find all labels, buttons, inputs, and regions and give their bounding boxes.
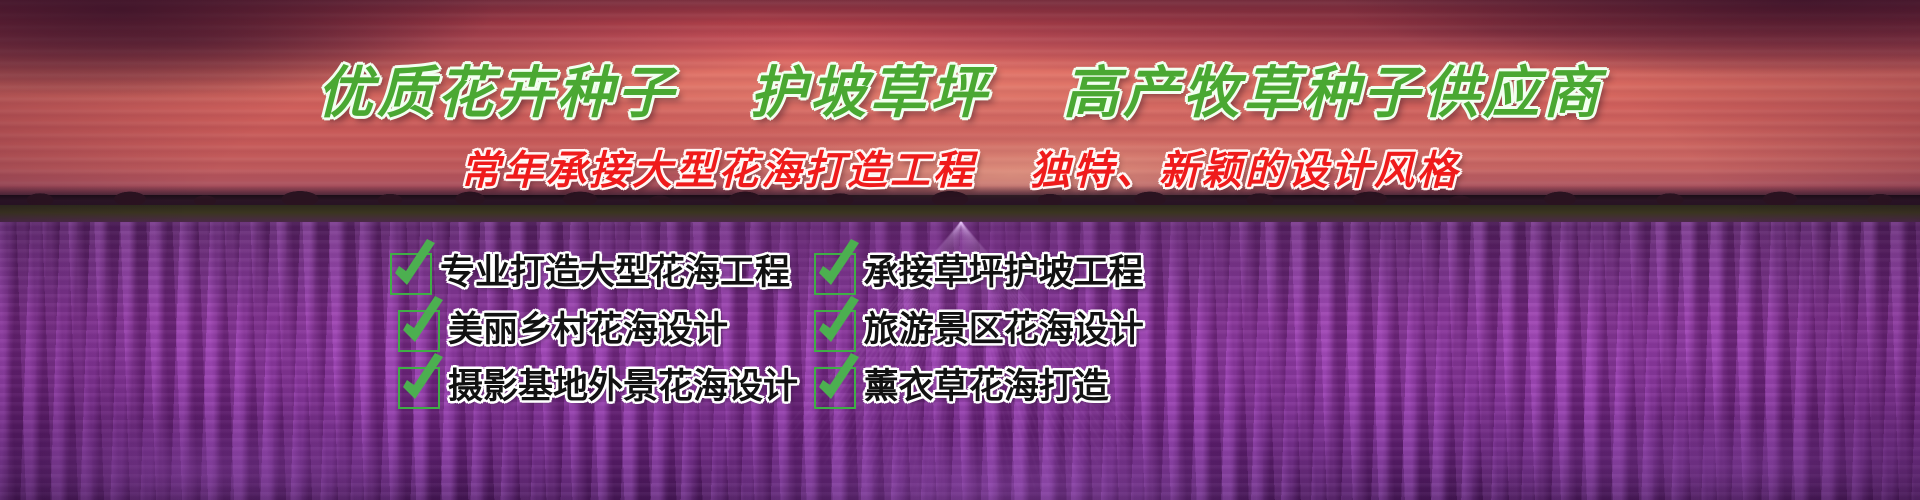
green-check-icon [814, 310, 856, 352]
green-check-icon [814, 253, 856, 295]
promo-banner: 优质花卉种子 护坡草坪 高产牧草种子供应商 常年承接大型花海打造工程 独特、新颖… [0, 0, 1920, 500]
feature-row: 专业打造大型花海工程 承接草坪护坡工程 [390, 245, 1170, 302]
feature-label: 旅游景区花海设计 [864, 313, 1144, 348]
feature-item: 摄影基地外景花海设计 [398, 367, 814, 409]
green-check-icon [390, 253, 432, 295]
feature-checklist: 专业打造大型花海工程 承接草坪护坡工程 美丽乡村花海设计 [390, 245, 1170, 416]
green-check-icon [814, 367, 856, 409]
feature-label: 摄影基地外景花海设计 [448, 370, 798, 405]
subtitle-part-2: 独特、新颖的设计风格 [1030, 147, 1460, 194]
headline-part-3: 高产牧草种子供应商 [1063, 60, 1603, 126]
feature-item: 专业打造大型花海工程 [390, 253, 814, 295]
banner-headline: 优质花卉种子 护坡草坪 高产牧草种子供应商 [0, 48, 1920, 129]
headline-part-2: 护坡草坪 [750, 60, 990, 126]
feature-item: 美丽乡村花海设计 [398, 310, 814, 352]
feature-item: 薰衣草花海打造 [814, 367, 1170, 409]
feature-label: 承接草坪护坡工程 [864, 256, 1144, 291]
green-check-icon [398, 310, 440, 352]
feature-item: 承接草坪护坡工程 [814, 253, 1170, 295]
feature-label: 美丽乡村花海设计 [448, 313, 728, 348]
feature-row: 美丽乡村花海设计 旅游景区花海设计 [390, 302, 1170, 359]
subtitle-part-1: 常年承接大型花海打造工程 [460, 147, 976, 194]
headline-part-1: 优质花卉种子 [317, 60, 677, 126]
feature-label: 专业打造大型花海工程 [440, 256, 790, 291]
banner-subtitle: 常年承接大型花海打造工程 独特、新颖的设计风格 [0, 138, 1920, 196]
feature-item: 旅游景区花海设计 [814, 310, 1170, 352]
feature-label: 薰衣草花海打造 [864, 370, 1109, 405]
green-check-icon [398, 367, 440, 409]
feature-row: 摄影基地外景花海设计 薰衣草花海打造 [390, 359, 1170, 416]
